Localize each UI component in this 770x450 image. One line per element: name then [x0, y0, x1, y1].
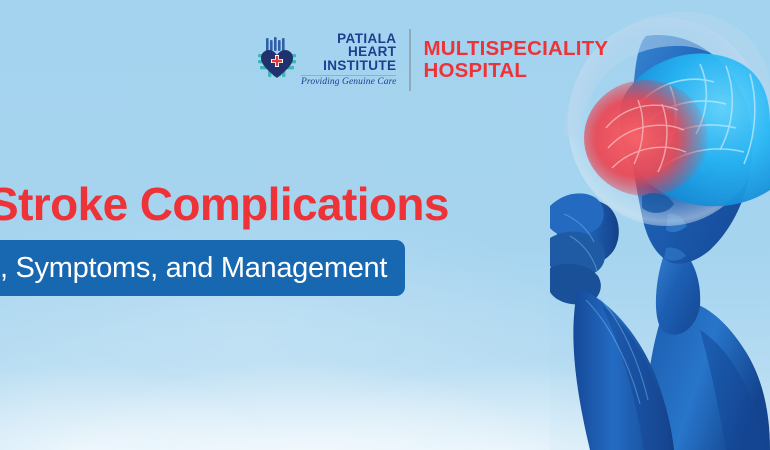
subtitle-banner: , Symptoms, and Management	[0, 240, 405, 296]
logo-lockup[interactable]: PATIALA HEART INSTITUTE Providing Genuin…	[257, 24, 608, 96]
brand-line-institute: INSTITUTE	[301, 59, 396, 73]
heart-with-cross-icon	[257, 37, 297, 83]
subtitle-text: , Symptoms, and Management	[0, 252, 387, 284]
brand-line-patiala: PATIALA	[301, 32, 396, 46]
hospital-wordmark: MULTISPECIALITY HOSPITAL	[423, 38, 608, 82]
brand-line-heart: HEART	[301, 45, 396, 59]
hospital-line-multispeciality: MULTISPECIALITY	[423, 38, 608, 60]
brand-wordmark: PATIALA HEART INSTITUTE Providing Genuin…	[301, 32, 396, 89]
hero-banner: PATIALA HEART INSTITUTE Providing Genuin…	[0, 0, 770, 450]
hospital-line-hospital: HOSPITAL	[423, 60, 608, 82]
brand-underline	[301, 75, 396, 76]
vertical-divider-icon	[409, 29, 411, 91]
page-title: Stroke Complications	[0, 178, 449, 230]
brand-tagline: Providing Genuine Care	[301, 77, 396, 88]
